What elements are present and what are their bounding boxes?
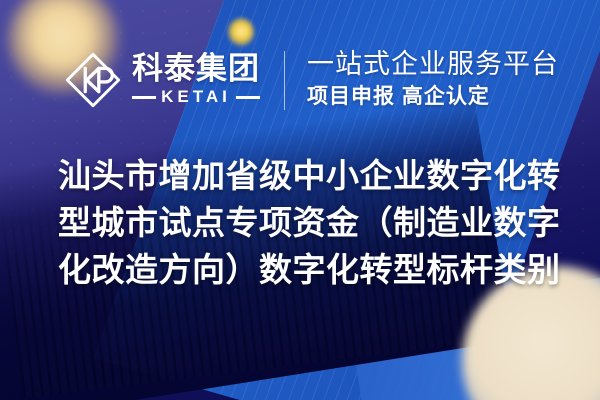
page-title: 汕头市增加省级中小企业数字化转 型城市试点专项资金（制造业数字 化改造方向）数字… xyxy=(58,152,558,294)
ketai-diamond-kp-monogram-icon xyxy=(62,49,124,111)
tagline-sub: 项目申报 高企认定 xyxy=(307,83,559,110)
page-title-line-1: 汕头市增加省级中小企业数字化转 xyxy=(58,152,558,199)
brand-name-en-row: KETAI xyxy=(132,87,260,107)
brand-name-en: KETAI xyxy=(161,87,231,107)
tagline-main: 一站式企业服务平台 xyxy=(307,49,559,80)
banner-header: 科泰集团 KETAI 一站式企业服务平台 项目申报 高企认定 xyxy=(0,40,600,120)
wordmark-dash-right xyxy=(236,96,260,99)
promo-banner: 科泰集团 KETAI 一站式企业服务平台 项目申报 高企认定 汕头市增加省级中小… xyxy=(0,0,600,400)
tagline-block: 一站式企业服务平台 项目申报 高企认定 xyxy=(307,49,559,110)
brand-name-cn: 科泰集团 xyxy=(132,53,260,86)
header-divider xyxy=(284,51,285,110)
page-title-line-2: 型城市试点专项资金（制造业数字 xyxy=(58,199,558,246)
page-title-line-3: 化改造方向）数字化转型标杆类别 xyxy=(58,246,558,293)
brand-wordmark: 科泰集团 KETAI xyxy=(132,53,260,108)
wordmark-dash-left xyxy=(132,96,156,99)
